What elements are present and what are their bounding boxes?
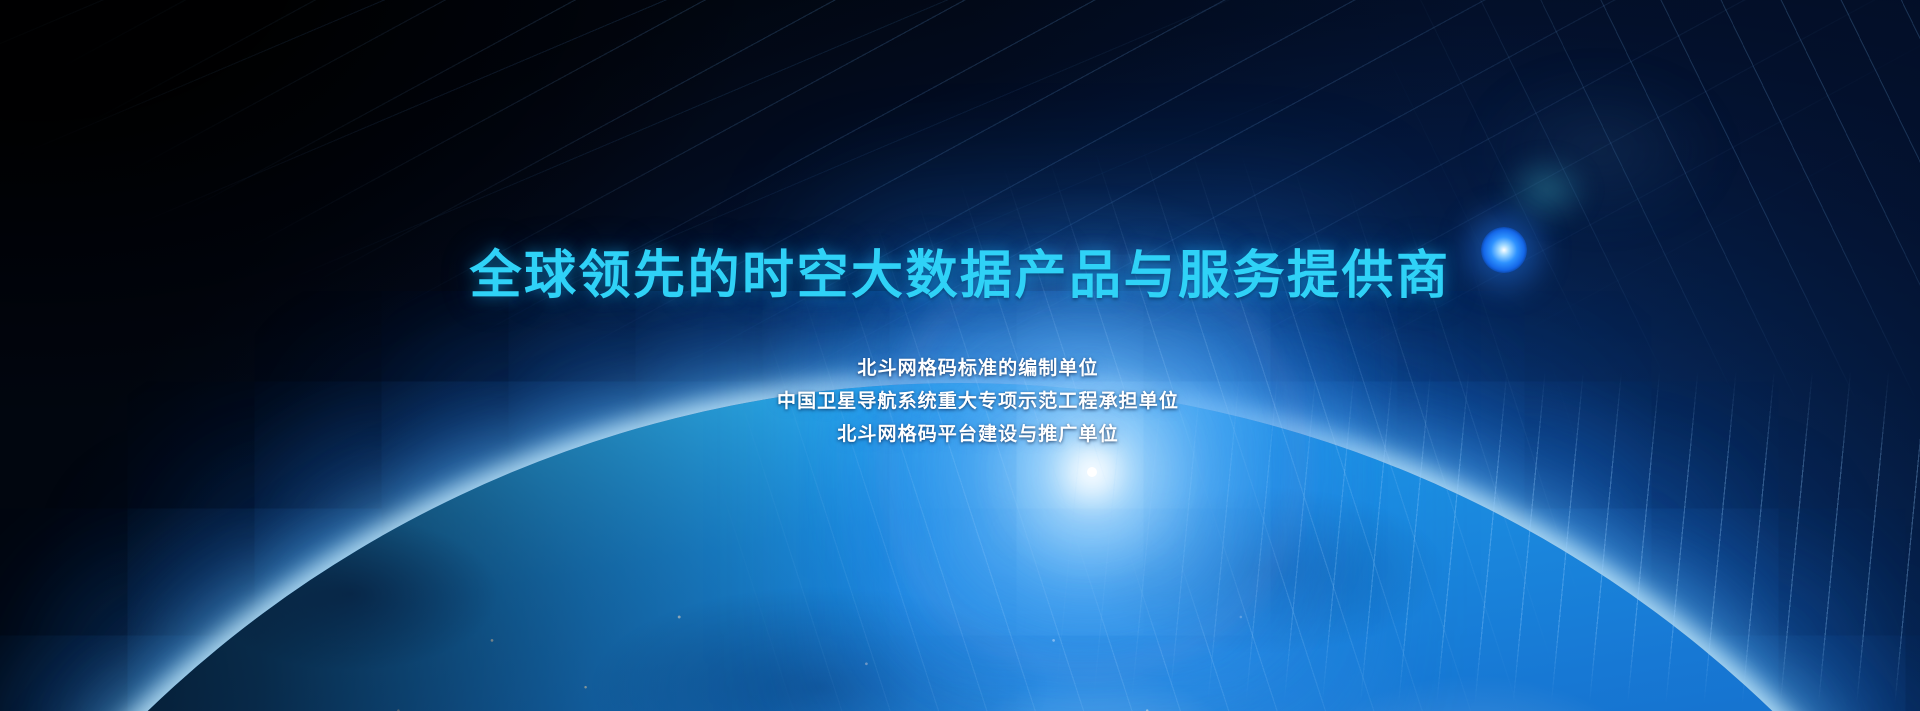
lens-flare-teal-orb: [1503, 155, 1589, 225]
hero-banner: 全球领先的时空大数据产品与服务提供商 北斗网格码标准的编制单位 中国卫星导航系统…: [0, 0, 1920, 711]
lens-flare-blue-orb: [1481, 227, 1527, 273]
sun-core-glow: [1087, 467, 1097, 477]
sun-halo-glow: [812, 192, 1372, 711]
lens-flare-smudge: [1485, 75, 1715, 225]
